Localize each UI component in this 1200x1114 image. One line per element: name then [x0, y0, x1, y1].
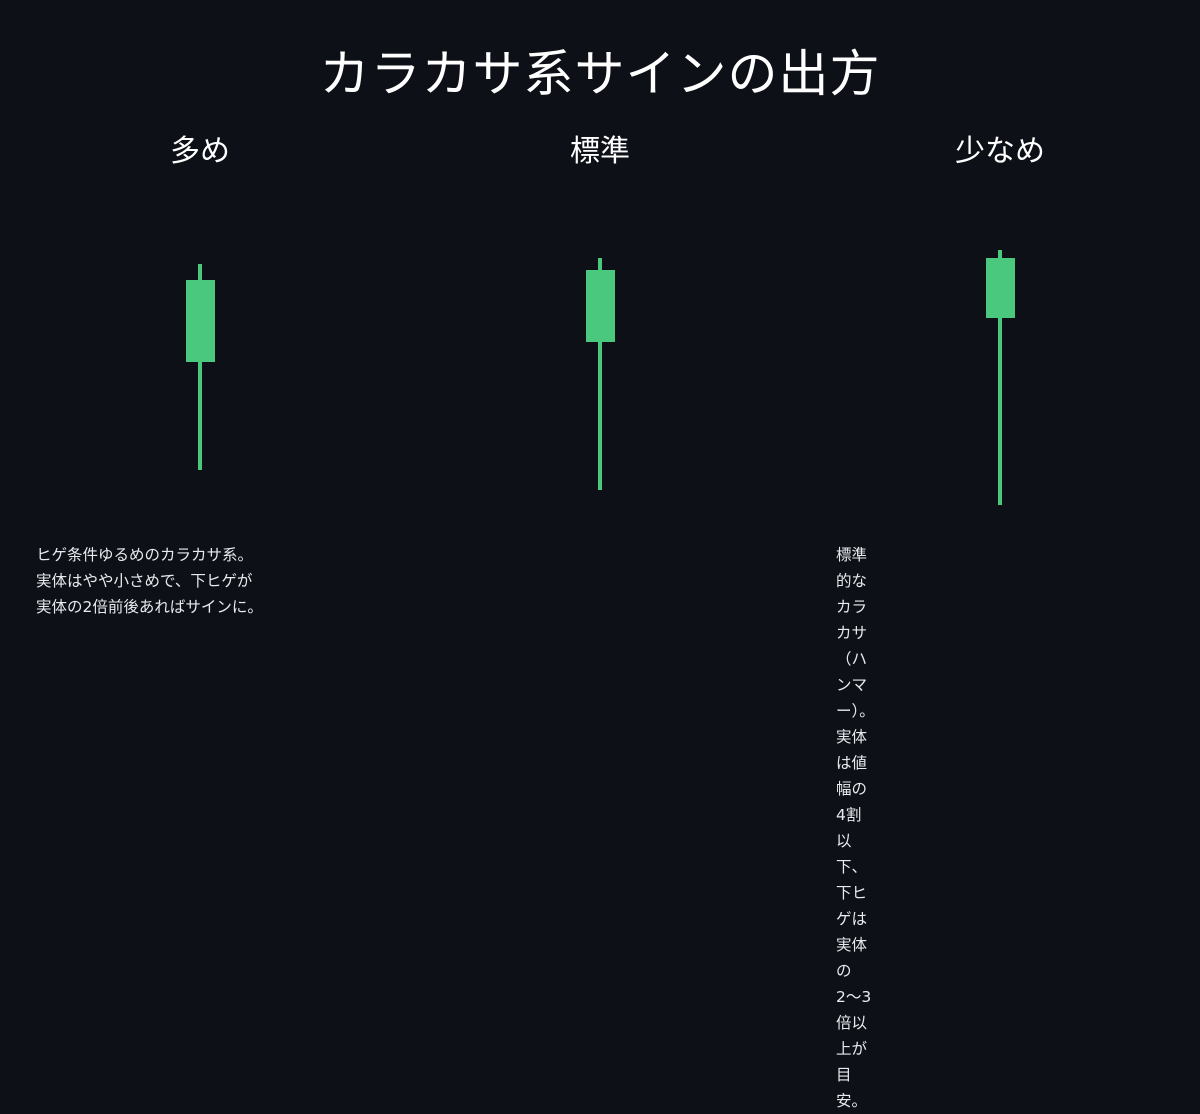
column-group: 多め ヒゲ条件ゆるめのカラカサ系。 実体はやや小さめで、下ヒゲが 実体の2倍前後…	[0, 0, 1200, 800]
lower-wick	[198, 360, 202, 470]
candle-body	[186, 280, 215, 362]
candlestick-loose	[0, 0, 400, 800]
candle-body	[986, 258, 1015, 318]
column-loose: 多め ヒゲ条件ゆるめのカラカサ系。 実体はやや小さめで、下ヒゲが 実体の2倍前後…	[0, 0, 400, 800]
upper-wick	[198, 264, 202, 282]
candlestick-strict	[800, 0, 1200, 800]
lower-wick	[598, 340, 602, 490]
column-strict: 少なめ 厳しめのカラカサだけを拾う形。 ごく小さな実体に対して、 下ヒゲが何倍も…	[800, 0, 1200, 800]
upper-wick	[998, 250, 1002, 260]
column-standard: 標準 標準的なカラカサ（ハンマー）。 実体は値幅の4割以下、下ヒゲは 実体の2〜…	[400, 0, 800, 800]
infographic-canvas: カラカサ系サインの出方 多め ヒゲ条件ゆるめのカラカサ系。 実体はやや小さめで、…	[0, 0, 1200, 800]
candle-body	[586, 270, 615, 342]
caption-loose: ヒゲ条件ゆるめのカラカサ系。 実体はやや小さめで、下ヒゲが 実体の2倍前後あれば…	[36, 542, 263, 620]
upper-wick	[598, 258, 602, 272]
column-heading-standard: 標準	[400, 133, 800, 171]
lower-wick	[998, 316, 1002, 505]
candlestick-standard	[400, 0, 800, 800]
column-heading-strict: 少なめ	[800, 133, 1200, 171]
column-heading-loose: 多め	[0, 133, 400, 171]
